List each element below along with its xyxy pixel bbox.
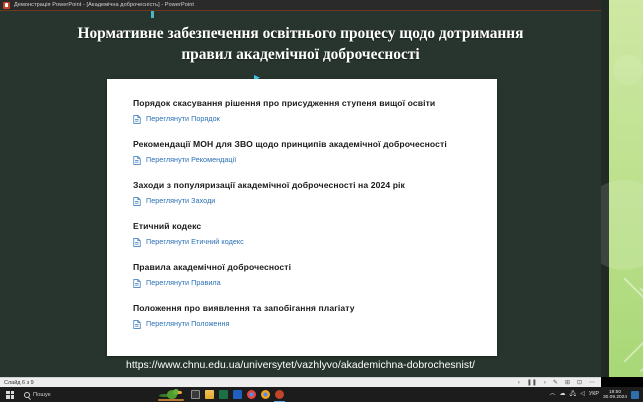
document-link-row[interactable]: Переглянути Положення (133, 319, 497, 329)
window-title: Демонстрація PowerPoint - [Академічна до… (14, 0, 194, 11)
document-heading: Порядок скасування рішення про присуджен… (133, 97, 497, 109)
document-link-row[interactable]: Переглянути Заходи (133, 196, 497, 206)
pdf-document-icon (133, 156, 141, 165)
onedrive-icon[interactable]: ☁ (559, 387, 565, 402)
background-window-strip (609, 0, 643, 377)
document-link[interactable]: Переглянути Правила (146, 278, 221, 288)
pen-tool-button[interactable]: ✎ (553, 378, 558, 388)
volume-icon[interactable]: ◁ (580, 387, 585, 402)
slideshow-controls: ‹ ❚❚ › ✎ ⊞ ⊡ ⋯ (518, 378, 601, 388)
excel-icon[interactable] (219, 390, 228, 399)
document-heading: Рекомендації МОН для ЗВО щодо принципів … (133, 138, 497, 150)
task-view-icon[interactable] (191, 390, 200, 399)
language-indicator[interactable]: УКР (589, 387, 599, 402)
list-item: Рекомендації МОН для ЗВО щодо принципів … (133, 138, 497, 165)
desktop-parrot-widget (158, 388, 184, 402)
pdf-document-icon (133, 115, 141, 124)
document-link[interactable]: Переглянути Етичний кодекс (146, 237, 244, 247)
powerpoint-taskbar-icon[interactable] (275, 390, 284, 399)
list-item: Правила академічної доброчесності Перегл… (133, 261, 497, 288)
source-url-caption: https://www.chnu.edu.ua/universytet/vazh… (0, 359, 601, 373)
all-slides-button[interactable]: ⊞ (565, 378, 570, 388)
previous-slide-button[interactable]: ‹ (518, 378, 520, 388)
document-link-row[interactable]: Переглянути Порядок (133, 114, 497, 124)
slide-canvas: Нормативне забезпечення освітнього проце… (0, 11, 601, 377)
powerpoint-status-bar: Слайд 6 з 9 ‹ ❚❚ › ✎ ⊞ ⊡ ⋯ (0, 377, 601, 387)
document-link[interactable]: Переглянути Положення (146, 319, 229, 329)
start-button[interactable] (0, 387, 20, 402)
document-heading: Правила академічної доброчесності (133, 261, 497, 273)
pdf-document-icon (133, 320, 141, 329)
notification-icon[interactable] (631, 391, 639, 399)
list-item: Порядок скасування рішення про присуджен… (133, 97, 497, 124)
pdf-document-icon (133, 238, 141, 247)
screen: Демонстрація PowerPoint - [Академічна до… (0, 0, 643, 402)
search-input[interactable]: Пошук (20, 389, 132, 401)
document-link[interactable]: Переглянути Порядок (146, 114, 220, 124)
next-slide-button[interactable]: › (544, 378, 546, 388)
slideshow-progress-marker (151, 11, 154, 18)
chrome-beta-icon[interactable] (261, 390, 270, 399)
search-icon (24, 392, 30, 398)
system-tray: ︿ ☁ 🖧 ◁ УКР 19:50 30.09.2024 (549, 387, 643, 402)
parrot-beak (178, 391, 182, 394)
clock-date: 30.09.2024 (603, 395, 627, 400)
parrot-perch (158, 399, 184, 401)
search-placeholder: Пошук (33, 389, 50, 401)
pdf-document-icon (133, 279, 141, 288)
clock[interactable]: 19:50 30.09.2024 (603, 390, 627, 400)
list-item: Етичний кодекс Переглянути Етичний кодек… (133, 220, 497, 247)
document-heading: Етичний кодекс (133, 220, 497, 232)
more-options-button[interactable]: ⋯ (589, 378, 595, 388)
powerpoint-title-bar: Демонстрація PowerPoint - [Академічна до… (0, 0, 601, 11)
slide-counter: Слайд 6 з 9 (4, 380, 34, 386)
show-hidden-icons-chevron-icon[interactable]: ︿ (549, 387, 555, 402)
chrome-icon[interactable] (247, 390, 256, 399)
pause-slideshow-button[interactable]: ❚❚ (527, 378, 537, 388)
decorative-circle-small (613, 55, 643, 85)
document-link-row[interactable]: Переглянути Етичний кодекс (133, 237, 497, 247)
documents-list: Порядок скасування рішення про присуджен… (107, 97, 497, 329)
document-link[interactable]: Переглянути Рекомендації (146, 155, 236, 165)
document-link-row[interactable]: Переглянути Правила (133, 278, 497, 288)
document-heading: Заходи з популяризації академічної добро… (133, 179, 497, 191)
documents-card: Порядок скасування рішення про присуджен… (107, 79, 497, 356)
document-link[interactable]: Переглянути Заходи (146, 196, 215, 206)
windows-logo-icon (6, 391, 14, 399)
powerpoint-icon (3, 2, 10, 9)
document-heading: Положення про виявлення та запобігання п… (133, 302, 497, 314)
zoom-slide-button[interactable]: ⊡ (577, 378, 582, 388)
pdf-document-icon (133, 197, 141, 206)
file-explorer-icon[interactable] (205, 390, 214, 399)
windows-taskbar: Пошук ︿ ☁ 🖧 ◁ УКР 19:50 30.09 (0, 387, 643, 402)
document-link-row[interactable]: Переглянути Рекомендації (133, 155, 497, 165)
list-item: Положення про виявлення та запобігання п… (133, 302, 497, 329)
word-icon[interactable] (233, 390, 242, 399)
list-item: Заходи з популяризації академічної добро… (133, 179, 497, 206)
slide-title: Нормативне забезпечення освітнього проце… (60, 23, 541, 65)
taskbar-app-icons (188, 387, 287, 402)
network-icon[interactable]: 🖧 (569, 387, 576, 402)
